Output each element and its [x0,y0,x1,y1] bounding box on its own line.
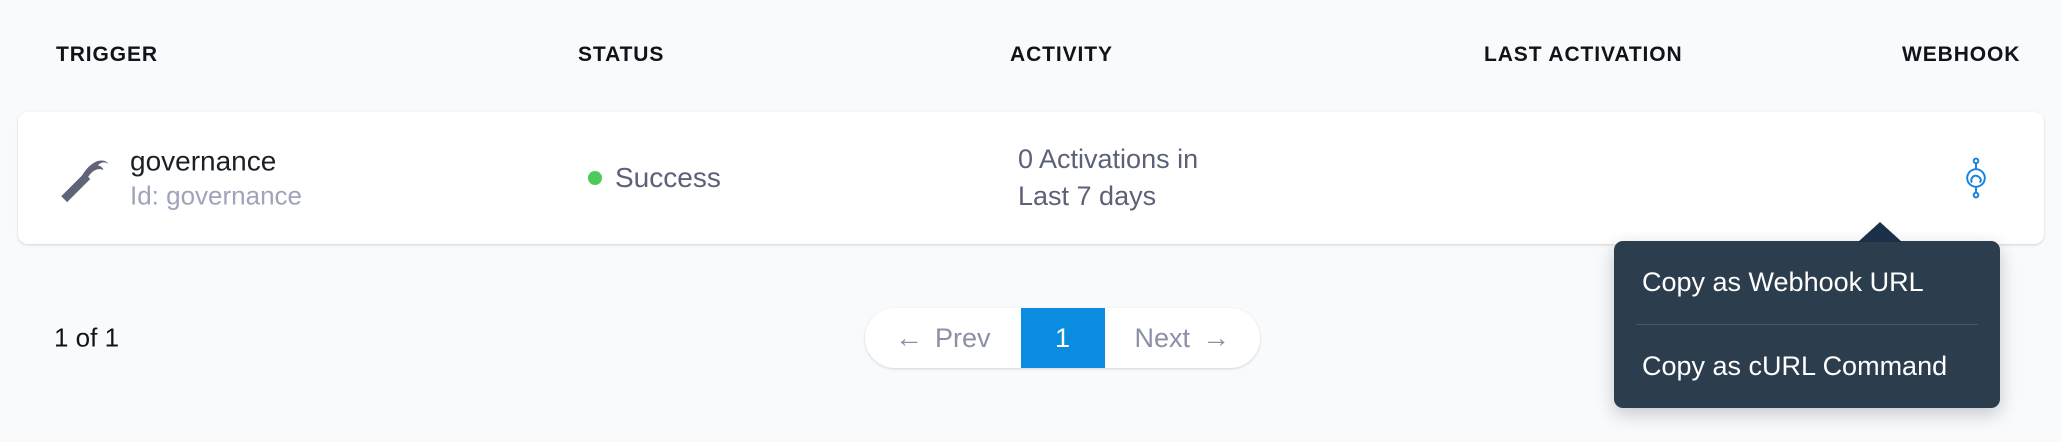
trigger-cell: governance Id: governance [54,145,302,212]
column-header-trigger: TRIGGER [56,43,158,67]
status-cell: Success [588,162,721,194]
menu-item-copy-webhook-url[interactable]: Copy as Webhook URL [1614,241,2000,324]
pagination-next-label: Next [1135,323,1191,354]
hammer-icon [54,149,112,207]
activity-line-1: 0 Activations in [1018,141,1198,178]
activity-line-2: Last 7 days [1018,178,1198,215]
column-header-status: STATUS [578,43,664,67]
arrow-left-icon: ← [895,324,923,352]
column-header-last-activation: LAST ACTIVATION [1484,43,1683,67]
status-label: Success [615,162,721,194]
table-header: TRIGGER STATUS ACTIVITY LAST ACTIVATION … [0,0,2062,108]
pagination-prev-button[interactable]: ← Prev [865,308,1021,368]
pagination: ← Prev 1 Next → [865,308,1260,368]
menu-caret-icon [1858,222,1902,242]
arrow-right-icon: → [1202,324,1230,352]
webhook-cell[interactable] [1928,156,2024,200]
trigger-name: governance [130,145,302,178]
triggers-table-page: TRIGGER STATUS ACTIVITY LAST ACTIVATION … [0,0,2062,442]
webhook-context-menu: Copy as Webhook URL Copy as cURL Command [1614,241,2000,408]
trigger-texts: governance Id: governance [130,145,302,212]
column-header-activity: ACTIVITY [1010,43,1113,67]
pagination-next-button[interactable]: Next → [1105,308,1261,368]
trigger-id: Id: governance [130,181,302,212]
webhook-icon[interactable] [1959,156,1993,200]
menu-item-copy-curl-command[interactable]: Copy as cURL Command [1614,325,2000,408]
column-header-webhook: WEBHOOK [1902,43,2020,67]
pagination-page-1-button[interactable]: 1 [1021,308,1105,368]
status-dot-icon [588,171,602,185]
pagination-prev-label: Prev [935,323,991,354]
table-row[interactable]: governance Id: governance Success 0 Acti… [18,112,2044,244]
result-count-label: 1 of 1 [54,323,119,354]
activity-cell: 0 Activations in Last 7 days [1018,141,1198,216]
